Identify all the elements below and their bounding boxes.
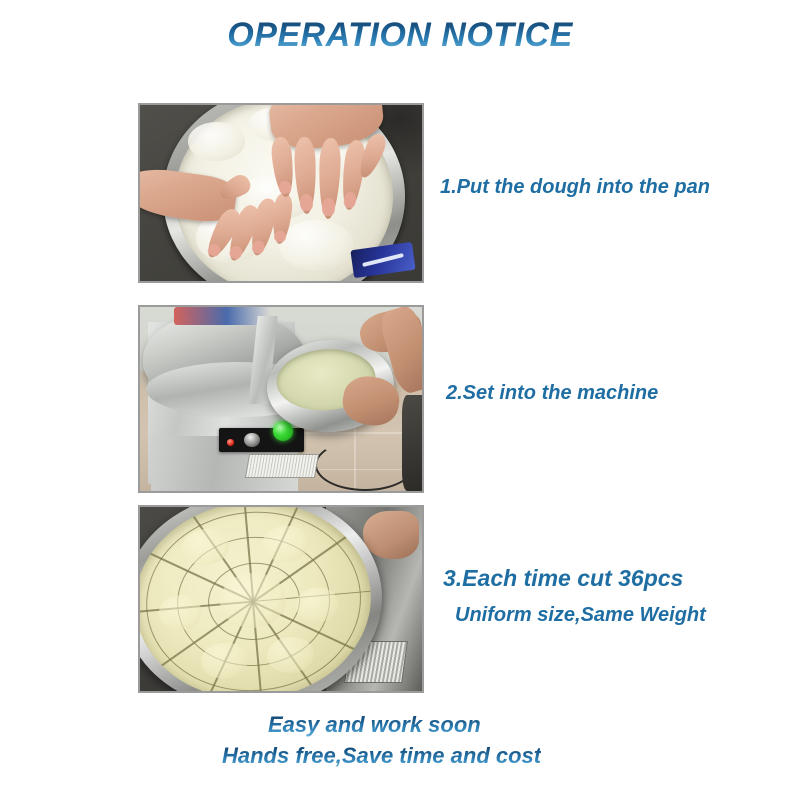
fingernail [273,230,286,242]
operator-hand [363,511,419,559]
machine-nameplate [245,454,319,478]
step-1-caption: 1.Put the dough into the pan [440,176,710,199]
dough-lump [279,220,353,271]
footer-line-2: Hands free,Save time and cost [222,743,541,769]
fingernail [322,198,336,216]
step-2-caption: 2.Set into the machine [446,382,658,405]
photo-1-content [140,105,422,281]
cut-dough-surface [140,507,379,691]
step-3-caption: 3.Each time cut 36pcs [443,565,683,592]
power-indicator [227,439,234,445]
dough-lump [188,122,245,161]
power-cord [315,439,415,491]
dough-pan [140,507,391,691]
page-title: OPERATION NOTICE [0,16,800,55]
photo-dough-in-pan [138,103,424,283]
dark-object [402,395,422,491]
photo-pan-into-machine [138,305,424,493]
photo-cut-dough-pieces [138,505,424,693]
selector-knob[interactable] [244,433,260,447]
fingernail [278,180,292,194]
step-3-subcaption: Uniform size,Same Weight [455,604,706,627]
photo-2-content [140,307,422,491]
fingernail [300,194,314,211]
machine-lid-label [174,307,270,325]
footer-line-1: Easy and work soon [268,712,481,738]
photo-3-content [140,507,422,691]
